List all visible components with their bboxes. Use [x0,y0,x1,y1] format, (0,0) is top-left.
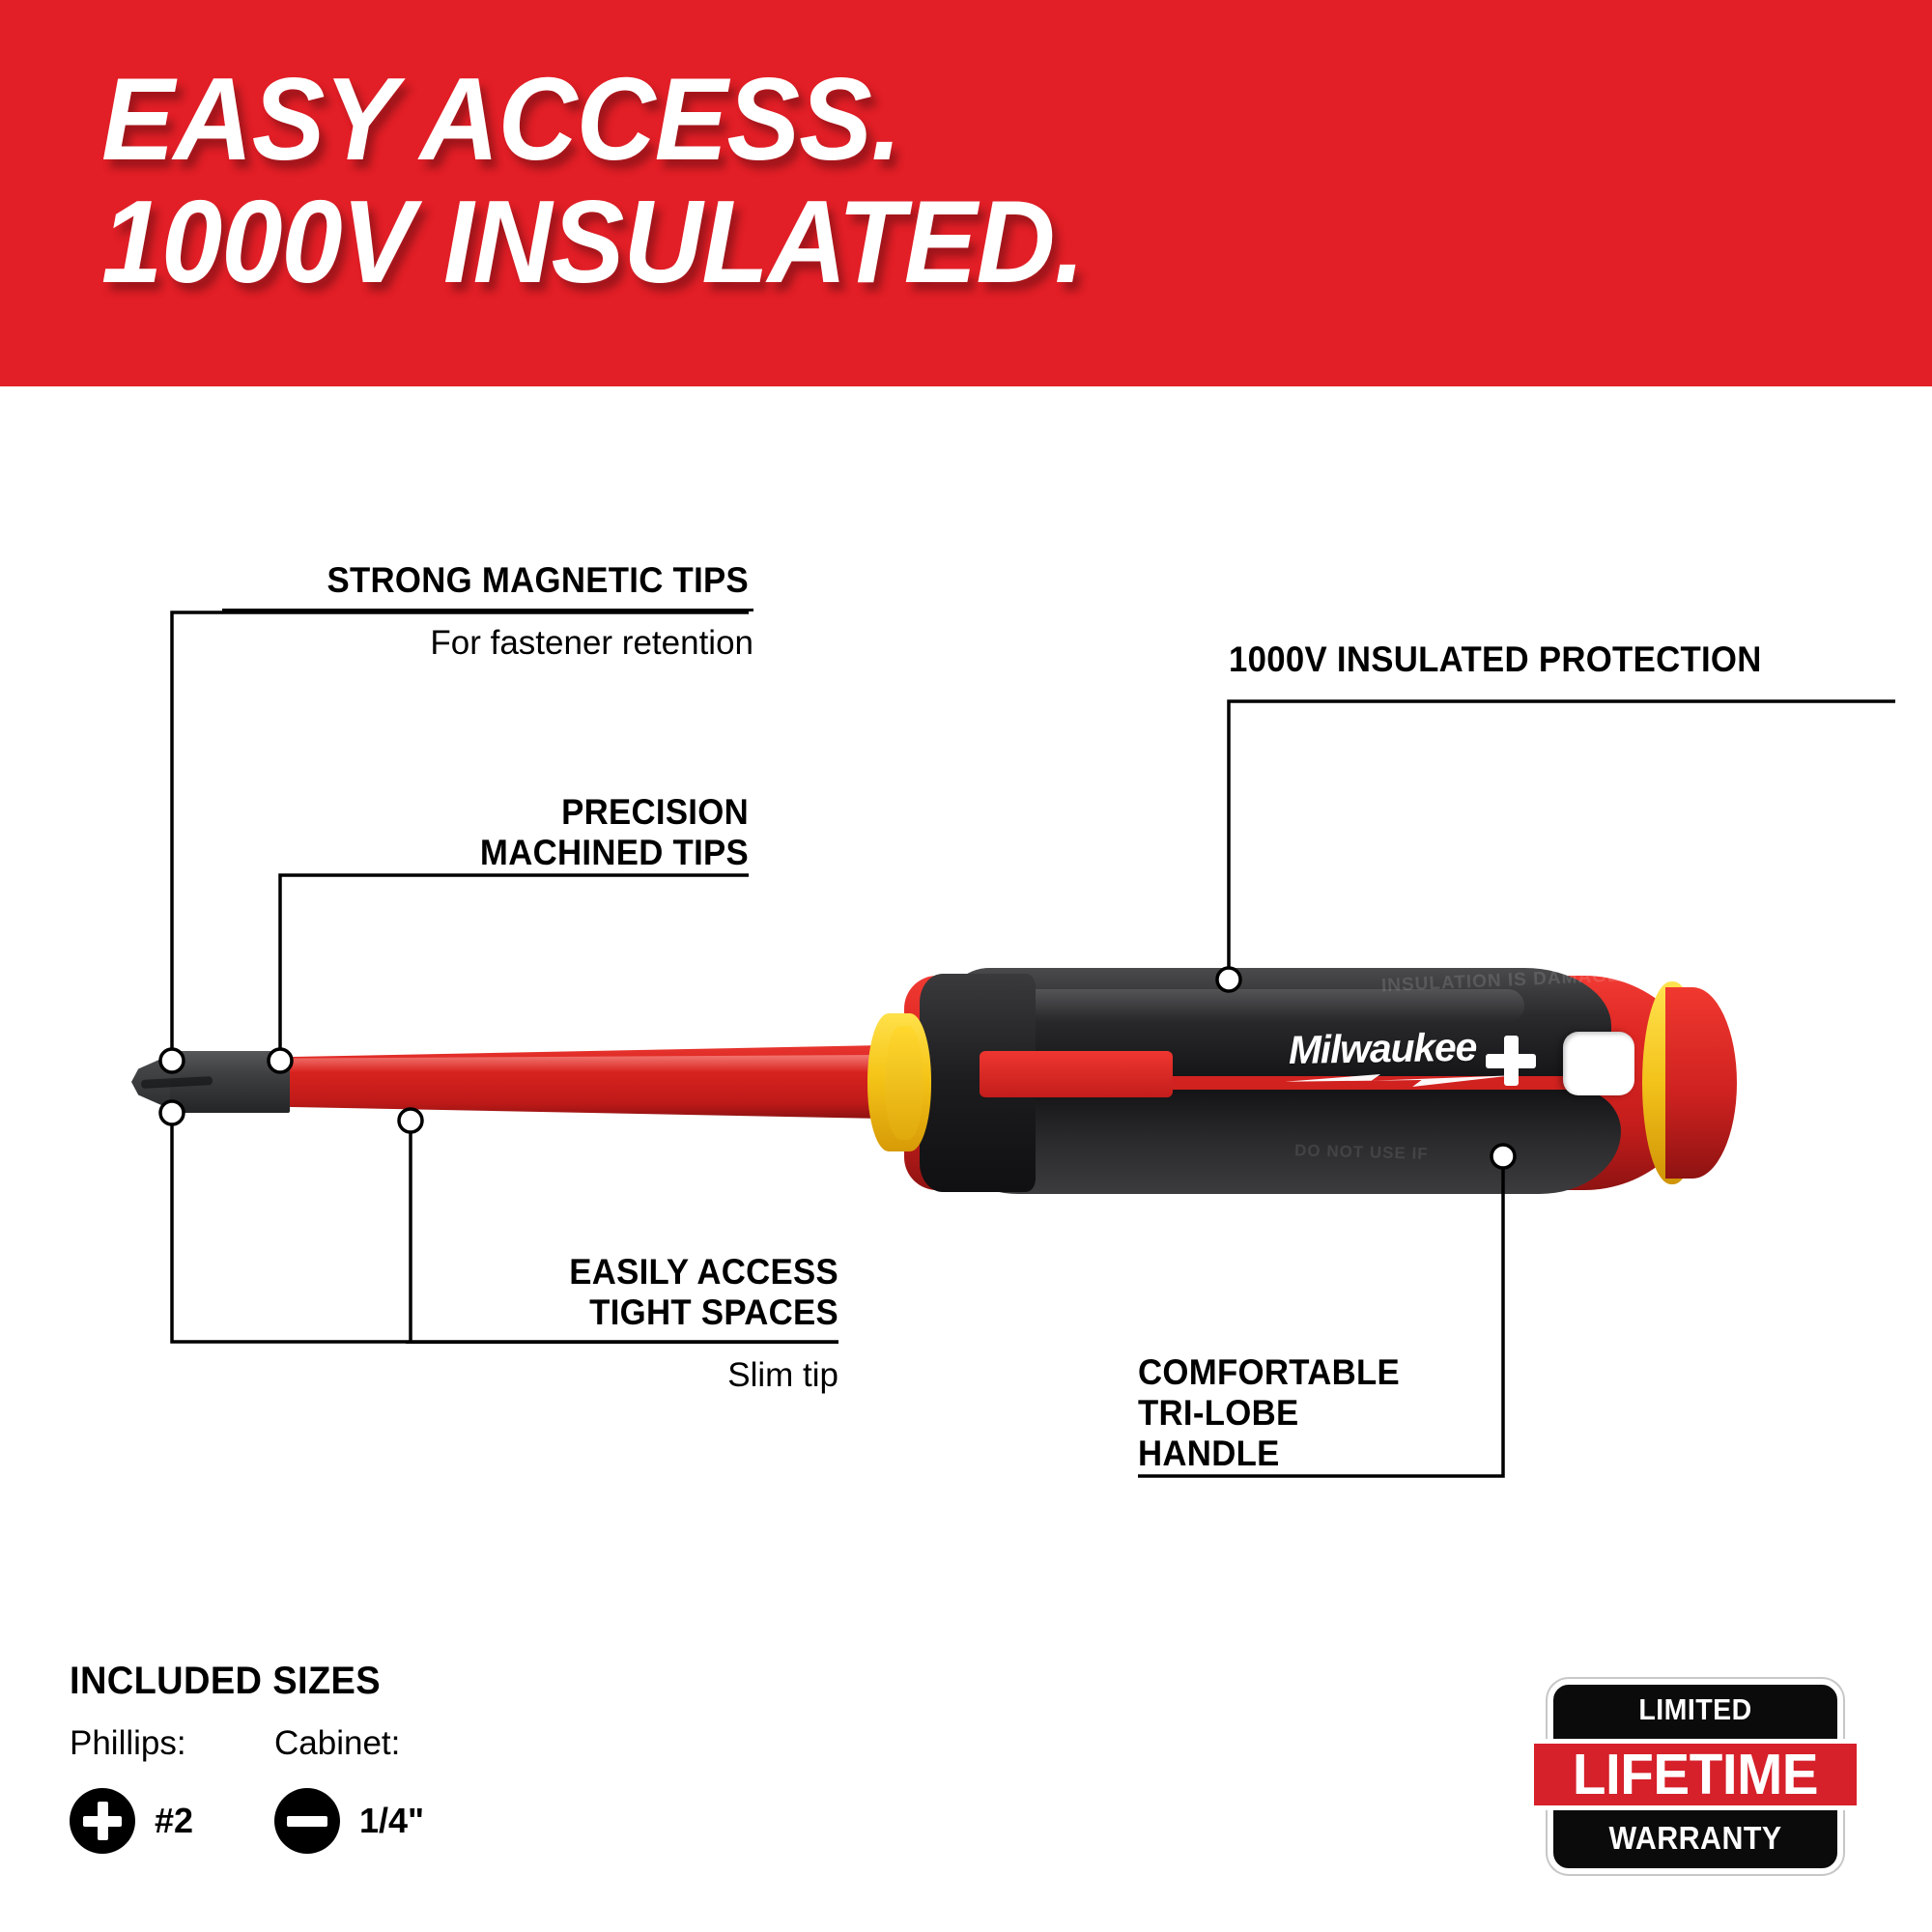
callout-title: EASILY ACCESS TIGHT SPACES [432,1252,838,1333]
handle-overmold-bottom [945,1090,1621,1194]
callout-title: 1000V INSULATED PROTECTION [1229,639,1864,680]
included-sizes-section: INCLUDED SIZES Phillips: #2 Cabinet: 1/4… [70,1660,649,1854]
size-item-cabinet: Cabinet: 1/4" [274,1724,479,1854]
warranty-line-lifetime: LIFETIME [1541,1744,1851,1805]
callout-subtitle: For fastener retention [222,623,753,664]
callout-precision-machined-tips: PRECISION MACHINED TIPS [319,792,749,873]
included-sizes-row: Phillips: #2 Cabinet: 1/4" [70,1724,649,1854]
callout-subtitle: Slim tip [406,1355,838,1396]
warranty-red-band: LIFETIME [1534,1739,1857,1810]
callout-strong-magnetic-tips: STRONG MAGNETIC TIPS For fastener retent… [222,560,753,664]
hang-hole [1563,1032,1634,1095]
size-pair: #2 [70,1788,274,1854]
callout-insulated-protection: 1000V INSULATED PROTECTION [1229,639,1895,680]
yellow-collar-inner [885,1026,923,1140]
callout-rule [222,609,753,611]
callout-title: COMFORTABLE TRI-LOBE HANDLE [1138,1352,1528,1475]
callout-title: STRONG MAGNETIC TIPS [254,560,749,601]
phillips-plus-icon [70,1788,135,1854]
size-value: #2 [155,1801,193,1841]
size-pair: 1/4" [274,1788,479,1854]
handle-front-red-inlay [980,1051,1173,1097]
callout-comfortable-tri-lobe-handle: COMFORTABLE TRI-LOBE HANDLE [1138,1352,1553,1475]
warranty-line-warranty: WARRANTY [1559,1820,1832,1857]
warranty-line-limited: LIMITED [1559,1692,1832,1727]
phillips-tip-steel [162,1051,290,1113]
callout-title: PRECISION MACHINED TIPS [345,792,749,873]
included-sizes-heading: INCLUDED SIZES [70,1660,620,1703]
size-label: Cabinet: [274,1724,479,1763]
warranty-badge: LIMITED LIFETIME WARRANTY [1534,1679,1857,1874]
phillips-plus-icon [1484,1034,1538,1088]
callout-rule [406,1341,838,1344]
slotted-minus-icon [274,1788,340,1854]
product-image-screwdriver: Milwaukee INSULATION IS DAMAGED DO NOT U… [0,0,1932,1932]
size-value: 1/4" [359,1801,424,1841]
handle-butt-cap [1665,987,1737,1179]
size-label: Phillips: [70,1724,274,1763]
size-item-phillips: Phillips: #2 [70,1724,274,1854]
callout-easily-access-tight-spaces: EASILY ACCESS TIGHT SPACES Slim tip [406,1252,838,1396]
